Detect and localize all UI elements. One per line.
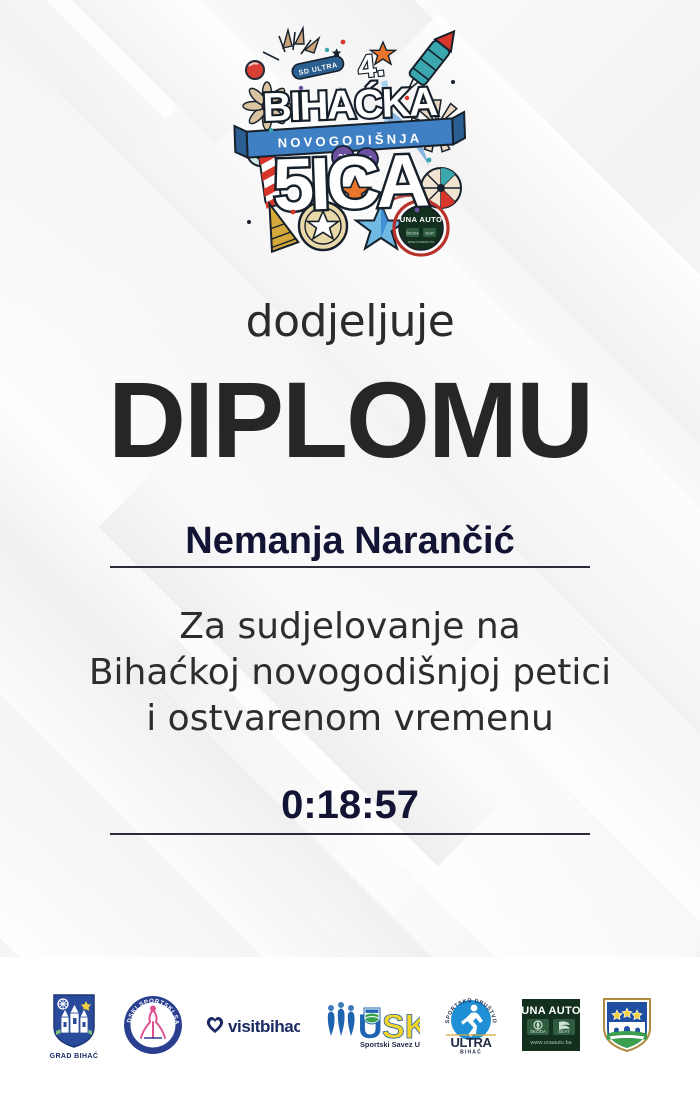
reason-line-3: i ostvarenom vremenu bbox=[0, 696, 700, 742]
svg-text:SEAT: SEAT bbox=[425, 232, 435, 236]
recipient-row: Nemanja Narančić bbox=[0, 520, 700, 563]
svg-text:4.: 4. bbox=[356, 46, 386, 85]
award-verb: dodjeljuje bbox=[0, 296, 700, 347]
reason-line-2: Bihaćkoj novogodišnjoj petici bbox=[0, 650, 700, 696]
svg-text:Sportski Savez USK: Sportski Savez USK bbox=[360, 1040, 420, 1049]
sportski-savez-usk-logo: U SK Sportski Savez USK bbox=[320, 1000, 420, 1050]
svg-text:SEAT: SEAT bbox=[558, 1029, 570, 1034]
unsko-sanski-kanton-grb bbox=[600, 996, 654, 1054]
result-row: 0:18:57 bbox=[0, 783, 700, 828]
svg-text:www.unaauto.ba: www.unaauto.ba bbox=[408, 240, 435, 244]
gradski-sportski-savez-bihac-logo: GRADSKI SPORTSKI SAVEZ BIHAĆ bbox=[122, 994, 184, 1056]
bihacka-novogodisnja-5ica-logo: UNA AUTO ŠKODA SEAT www.unaauto.ba bbox=[231, 22, 469, 260]
page-title: DIPLOMU bbox=[0, 363, 700, 476]
reason-line-1: Za sudjelovanje na bbox=[0, 604, 700, 650]
visitbihac-logo: visitbihac bbox=[204, 1010, 300, 1040]
svg-text:5ICA: 5ICA bbox=[271, 138, 429, 226]
result-time: 0:18:57 bbox=[281, 783, 419, 827]
sportsko-drustvo-ultra-bihac-logo: SPORTSKO DRUŠTVO ULTRA BIHAĆ bbox=[440, 994, 502, 1056]
svg-text:visitbihac: visitbihac bbox=[228, 1017, 300, 1036]
svg-text:ŠKODA: ŠKODA bbox=[530, 1028, 547, 1034]
svg-text:ULTRA: ULTRA bbox=[450, 1035, 492, 1050]
svg-text:www.unaauto.ba: www.unaauto.ba bbox=[529, 1040, 572, 1046]
recipient-underline bbox=[110, 566, 590, 568]
recipient-name: Nemanja Narančić bbox=[185, 520, 515, 562]
svg-text:UNA AUTO: UNA AUTO bbox=[522, 1005, 580, 1017]
event-logo-container: UNA AUTO ŠKODA SEAT www.unaauto.ba bbox=[0, 22, 700, 260]
reason-text: Za sudjelovanje na Bihaćkoj novogodišnjo… bbox=[0, 604, 700, 742]
grad-bihac-logo: GRAD BIHAĆ bbox=[46, 991, 102, 1060]
svg-text:ŠKODA: ŠKODA bbox=[406, 231, 419, 236]
sponsor-logos: GRAD BIHAĆ GRADSKI SPORTSKI SAVEZ BIHAĆ bbox=[0, 975, 700, 1075]
result-underline bbox=[110, 833, 590, 835]
una-auto-logo: UNA AUTO ŠKODA SEAT www.unaauto.ba bbox=[522, 999, 580, 1051]
grad-bihac-caption: GRAD BIHAĆ bbox=[50, 1053, 99, 1060]
heart-icon bbox=[207, 1017, 223, 1033]
svg-text:BIHAĆ: BIHAĆ bbox=[460, 1048, 482, 1056]
diploma-page: UNA AUTO ŠKODA SEAT www.unaauto.ba bbox=[0, 0, 700, 1100]
